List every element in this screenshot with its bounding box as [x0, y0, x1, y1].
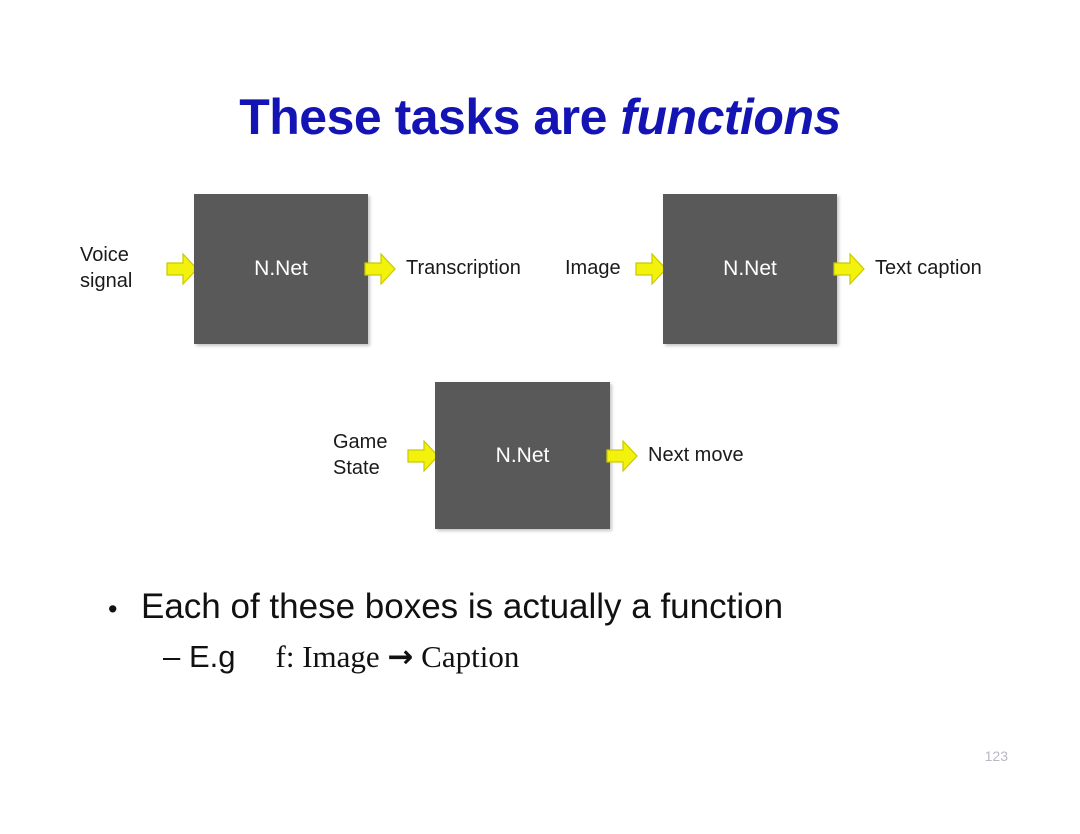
- bullet-level2-eg: E.g: [189, 639, 236, 676]
- page-title: These tasks are functions: [0, 88, 1080, 146]
- pipeline-output-label: Next move: [648, 443, 744, 469]
- formula-codomain: Caption: [413, 639, 519, 674]
- page-number: 123: [985, 748, 1008, 764]
- nnet-box: N.Net: [663, 194, 837, 344]
- bullet-item-level2: – E.g f: Image → Caption: [163, 639, 1008, 676]
- nnet-box: N.Net: [194, 194, 368, 344]
- maps-to-arrow-icon: →: [387, 639, 413, 675]
- pipeline-input-label: Image: [565, 256, 635, 282]
- arrow-right-icon: [833, 251, 865, 287]
- arrow-right-icon: [606, 438, 638, 474]
- bullet-marker-icon: •: [108, 596, 141, 623]
- arrow-right-icon: [364, 251, 396, 287]
- bullet-level2-formula: f: Image → Caption: [276, 639, 520, 676]
- pipeline-game-playing: Game State N.Net Next move: [333, 382, 744, 529]
- pipeline-input-label: Game State: [333, 430, 407, 481]
- nnet-box: N.Net: [435, 382, 610, 529]
- nnet-box-label: N.Net: [723, 257, 777, 281]
- bullet-item-level1: • Each of these boxes is actually a func…: [108, 586, 1008, 627]
- pipeline-image-captioning: Image N.Net Text caption: [565, 194, 982, 344]
- pipeline-speech-recognition: Voice signal N.Net Transcription: [80, 194, 521, 344]
- title-italic-text: functions: [620, 89, 840, 145]
- pipeline-input-label: Voice signal: [80, 243, 166, 294]
- nnet-box-label: N.Net: [254, 257, 308, 281]
- nnet-box-label: N.Net: [496, 444, 550, 468]
- bullet-level1-text: Each of these boxes is actually a functi…: [141, 586, 783, 627]
- bullet-dash-marker-icon: –: [163, 639, 189, 676]
- bullet-list: • Each of these boxes is actually a func…: [108, 586, 1008, 676]
- formula-domain: f: Image: [276, 639, 388, 674]
- pipeline-output-label: Transcription: [406, 256, 521, 282]
- title-main-text: These tasks are: [239, 89, 620, 145]
- pipeline-output-label: Text caption: [875, 256, 982, 282]
- slide-canvas: These tasks are functions Voice signal N…: [0, 0, 1080, 834]
